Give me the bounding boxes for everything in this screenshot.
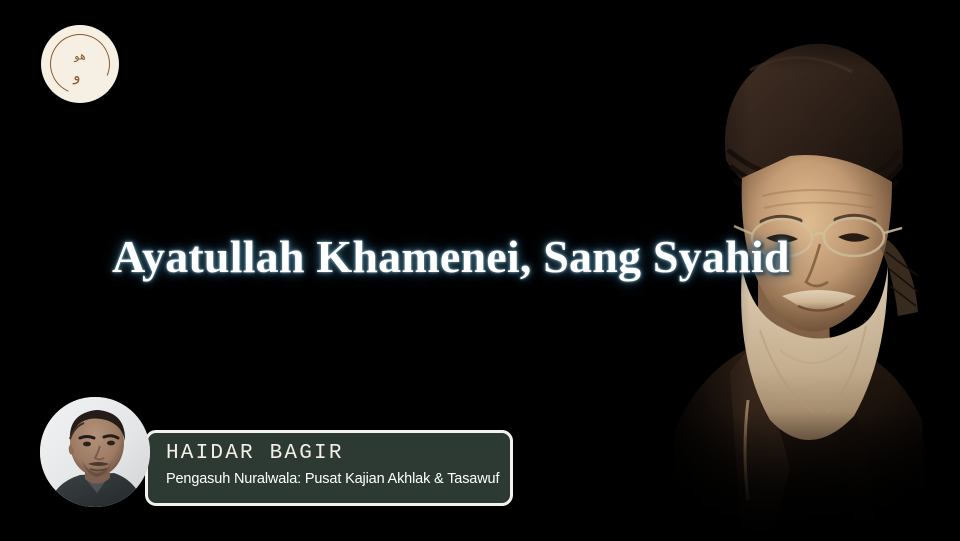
logo-ring-icon — [41, 25, 119, 103]
logo-glyph-top: هو — [74, 51, 85, 62]
lower-third-banner: HAIDAR BAGIR Pengasuh Nuralwala: Pusat K… — [145, 430, 513, 506]
logo-glyph-bottom: و — [73, 69, 80, 84]
slide-title: Ayatullah Khamenei, Sang Syahid — [112, 230, 790, 283]
slide-canvas: هو و Ayatullah Khamenei, Sang Syahid HAI… — [0, 0, 960, 541]
speaker-role: Pengasuh Nuralwala: Pusat Kajian Akhlak … — [166, 470, 510, 490]
haidar-bagir-avatar — [40, 397, 150, 507]
speaker-name: HAIDAR BAGIR — [166, 441, 510, 467]
nuralwala-logo: هو و — [41, 25, 119, 103]
